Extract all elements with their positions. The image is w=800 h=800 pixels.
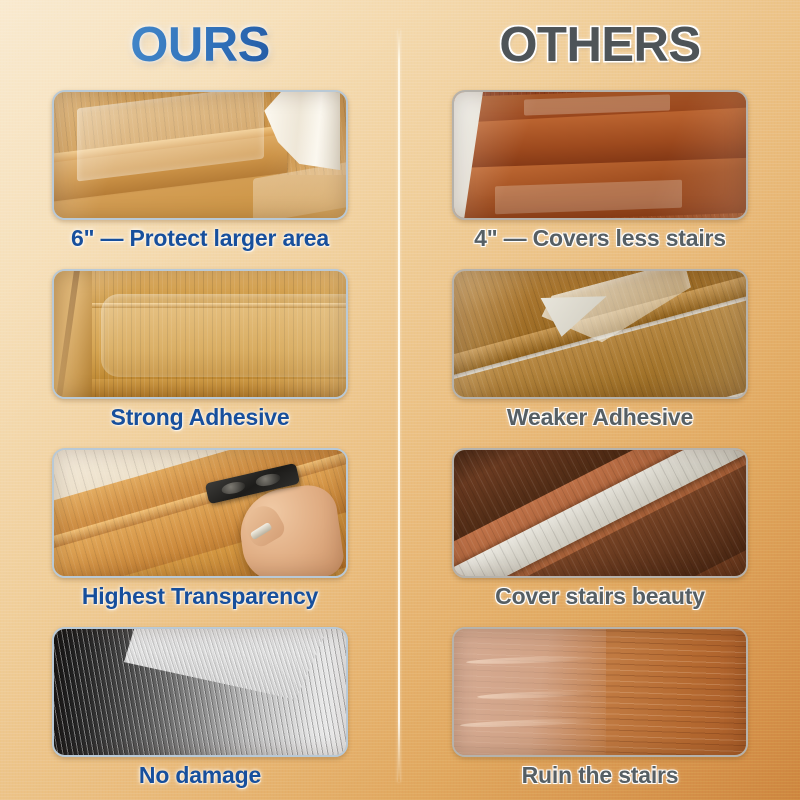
comparison-cell-others-2: Weaker Adhesive (400, 265, 800, 443)
comparison-cell-ours-3: Highest Transparency (0, 444, 400, 622)
caption-others-3: Cover stairs beauty (400, 580, 800, 612)
caption-ours-4: No damage (0, 759, 400, 791)
photo-highest-transparency-hand-tool (52, 448, 348, 578)
comparison-cell-others-3: Cover stairs beauty (400, 444, 800, 622)
caption-others-1: 4" — Covers less stairs (400, 222, 800, 254)
photo-weaker-adhesive-peeling (452, 269, 748, 399)
photo-opaque-strip-covering-wood (452, 448, 748, 578)
comparison-cell-others-4: Ruin the stairs (400, 623, 800, 800)
photo-no-damage-mat-texture (52, 627, 348, 757)
comparison-infographic: OURS OTHERS 6" — Protect l (0, 0, 800, 800)
caption-ours-2: Strong Adhesive (0, 401, 400, 433)
caption-ours-1: 6" — Protect larger area (0, 222, 400, 254)
caption-others-2: Weaker Adhesive (400, 401, 800, 433)
caption-ours-3: Highest Transparency (0, 580, 400, 612)
caption-others-4: Ruin the stairs (400, 759, 800, 791)
photo-ruined-stair-finish (452, 627, 748, 757)
header-ours: OURS (0, 14, 400, 76)
comparison-cell-ours-4: No damage (0, 623, 400, 800)
photo-mahogany-stair-4-inch (452, 90, 748, 220)
photo-strong-adhesive-mat (52, 269, 348, 399)
photo-light-oak-stair-6-inch (52, 90, 348, 220)
comparison-cell-ours-2: Strong Adhesive (0, 265, 400, 443)
comparison-cell-ours-1: 6" — Protect larger area (0, 86, 400, 264)
comparison-grid: 6" — Protect larger area 4" — Covers (0, 86, 800, 800)
column-headers: OURS OTHERS (0, 0, 800, 88)
comparison-cell-others-1: 4" — Covers less stairs (400, 86, 800, 264)
header-others: OTHERS (400, 14, 800, 76)
